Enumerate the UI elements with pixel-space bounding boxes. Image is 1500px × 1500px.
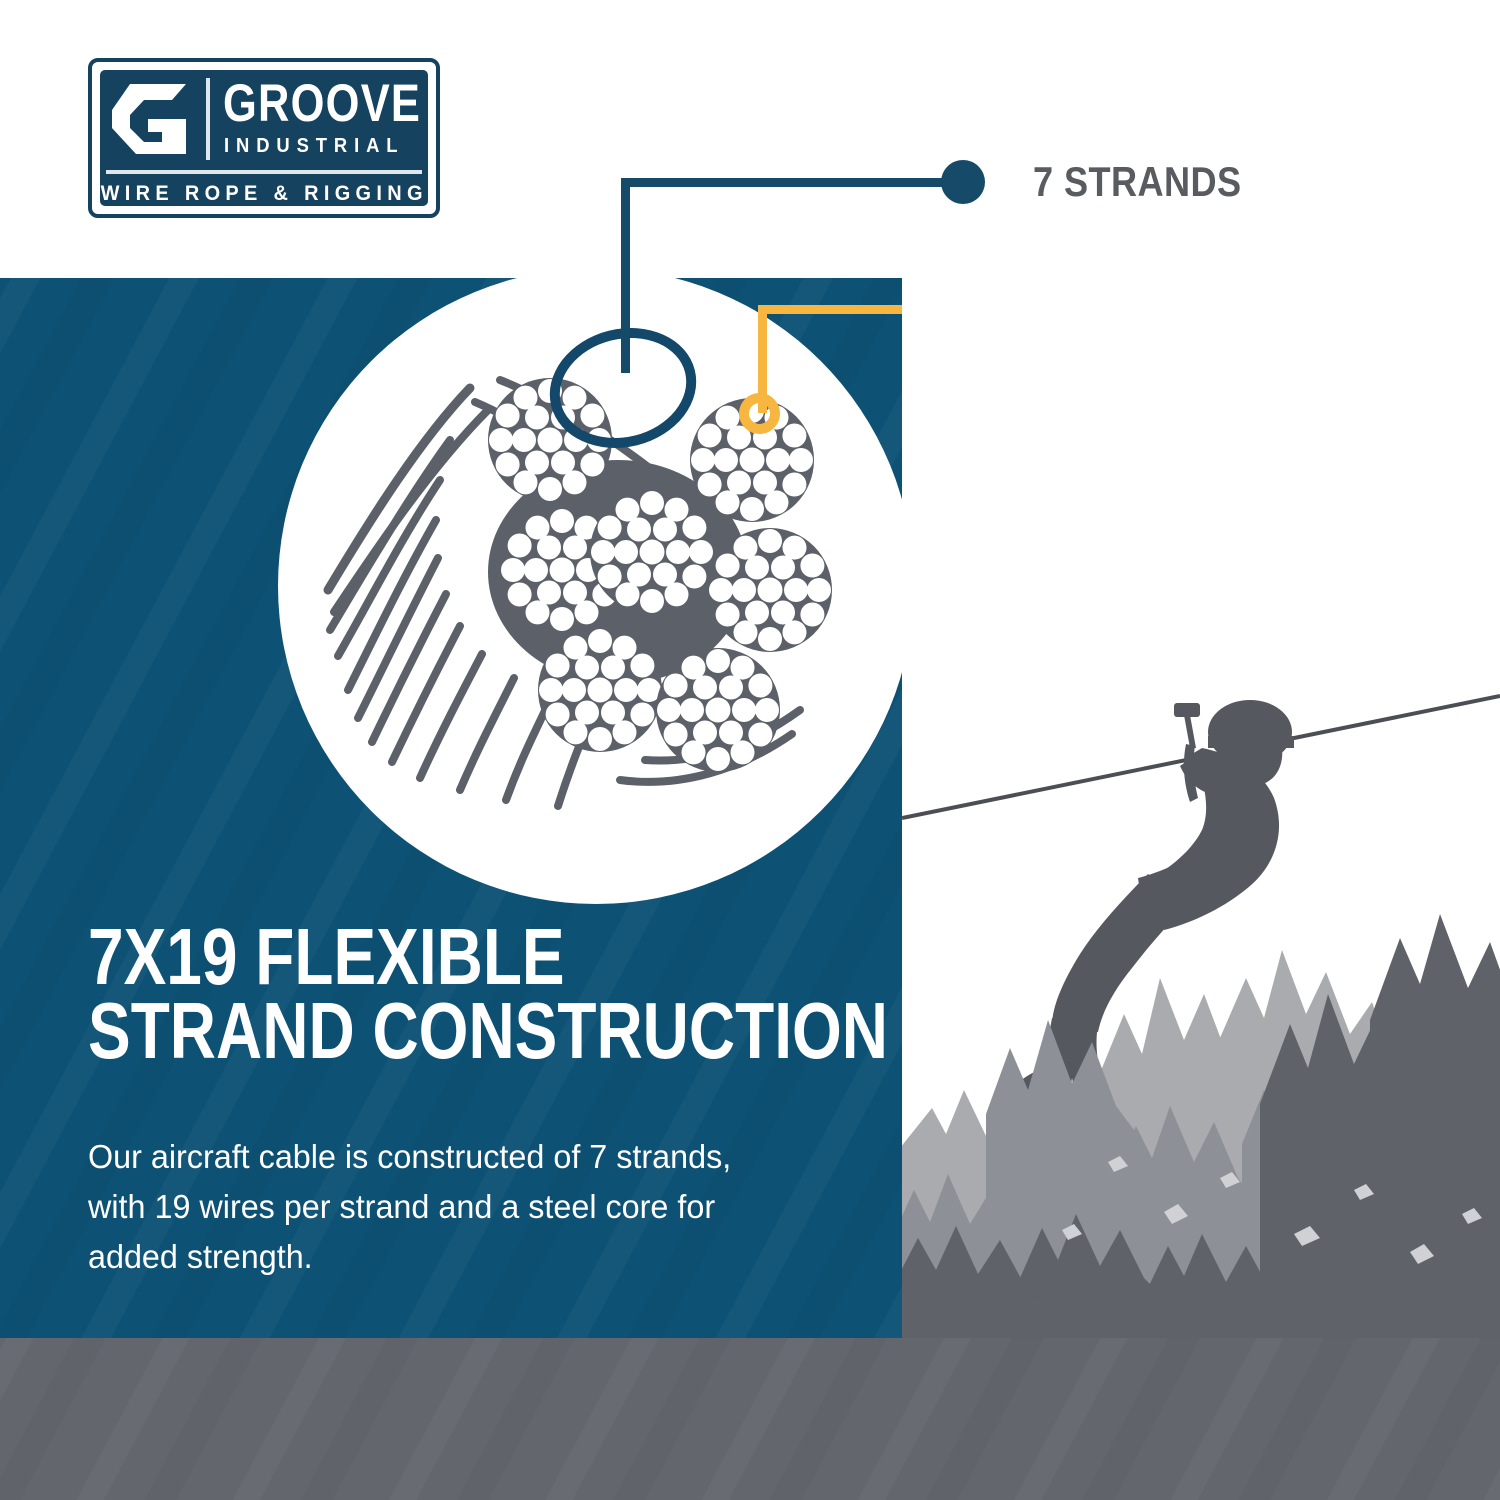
callout-strands[interactable]: 7 STRANDS <box>941 160 1276 204</box>
logo-inner-fill: GROOVE INDUSTRIAL WIRE ROPE & RIGGING <box>100 70 428 206</box>
wire-target-ring-icon <box>739 393 780 434</box>
bottom-gray-band <box>0 1338 1500 1500</box>
zipline-forest-photo <box>902 278 1500 1338</box>
logo-top-row: GROOVE INDUSTRIAL <box>100 70 428 168</box>
headline-line-2: STRAND CONSTRUCTION <box>88 994 720 1068</box>
groove-g-monogram-icon <box>100 70 206 168</box>
page-title: 7X19 FLEXIBLE STRAND CONSTRUCTION <box>88 920 878 1068</box>
headline-line-1: 7X19 FLEXIBLE <box>88 920 720 994</box>
logo-name: GROOVE <box>223 77 421 130</box>
callout-label-strands: 7 STRANDS <box>1033 161 1242 203</box>
callout-dot-blue-icon <box>941 160 985 204</box>
logo-tagline-row: WIRE ROPE & RIGGING <box>100 174 428 214</box>
leader-line-blue-vertical <box>621 178 630 373</box>
logo-subtitle: INDUSTRIAL <box>224 136 404 156</box>
leader-line-blue-horizontal <box>621 178 951 187</box>
logo-outer-frame: GROOVE INDUSTRIAL WIRE ROPE & RIGGING <box>88 58 440 218</box>
logo-tagline: WIRE ROPE & RIGGING <box>100 182 427 206</box>
brand-logo[interactable]: GROOVE INDUSTRIAL WIRE ROPE & RIGGING <box>88 58 440 218</box>
logo-wordmark: GROOVE INDUSTRIAL <box>210 70 428 168</box>
band-diagonal-texture <box>0 1338 1500 1500</box>
infographic-canvas: GROOVE INDUSTRIAL WIRE ROPE & RIGGING <box>0 0 1500 1500</box>
body-paragraph: Our aircraft cable is constructed of 7 s… <box>88 1133 764 1283</box>
